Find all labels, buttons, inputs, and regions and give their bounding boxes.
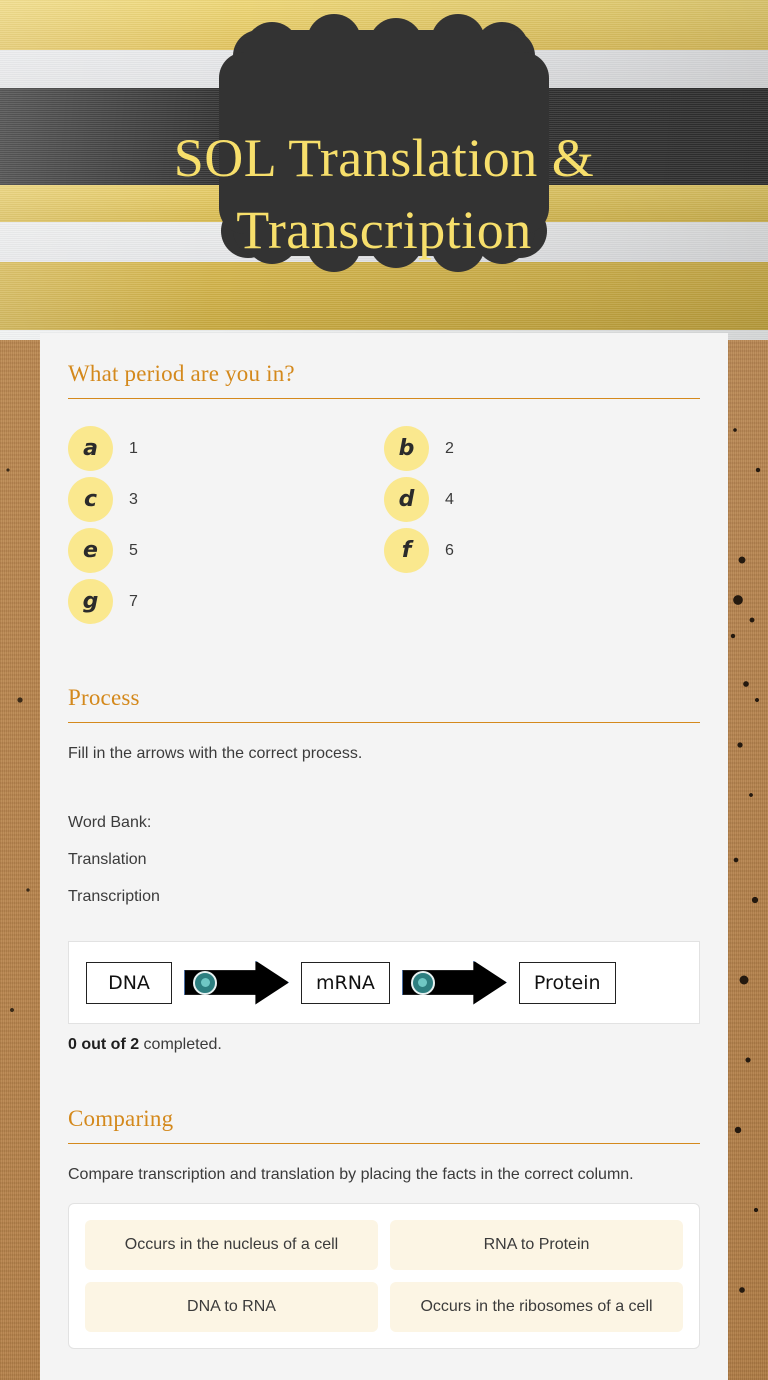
- choice-letter-bubble: e: [68, 528, 113, 573]
- comparing-instruction: Compare transcription and translation by…: [68, 1162, 700, 1187]
- process-instruction: Fill in the arrows with the correct proc…: [68, 741, 700, 766]
- section-divider: [68, 398, 700, 399]
- diagram-arrow-slot-2[interactable]: [402, 958, 507, 1008]
- section-title-period: What period are you in?: [68, 361, 700, 398]
- worksheet-card: What period are you in? a 1 c 3 e 5 g 7 …: [40, 333, 728, 1380]
- drop-target-icon[interactable]: [193, 971, 217, 995]
- section-process: Process Fill in the arrows with the corr…: [68, 627, 700, 1054]
- choice-label: 5: [129, 542, 138, 560]
- word-bank-item-translation[interactable]: Translation: [68, 847, 700, 884]
- choice-letter-bubble: g: [68, 579, 113, 624]
- word-bank-item-transcription[interactable]: Transcription: [68, 884, 700, 921]
- choice-letter-bubble: c: [68, 477, 113, 522]
- fact-tile-panel: Occurs in the nucleus of a cell RNA to P…: [68, 1203, 700, 1349]
- choice-label: 3: [129, 491, 138, 509]
- choice-label: 1: [129, 440, 138, 458]
- choice-option-b[interactable]: b 2: [384, 423, 700, 474]
- drop-target-icon[interactable]: [411, 971, 435, 995]
- fact-tile[interactable]: Occurs in the nucleus of a cell: [85, 1220, 378, 1270]
- diagram-arrow-slot-1[interactable]: [184, 958, 289, 1008]
- choice-option-a[interactable]: a 1: [68, 423, 384, 474]
- fact-tile[interactable]: RNA to Protein: [390, 1220, 683, 1270]
- section-title-process: Process: [68, 685, 700, 722]
- hero-banner: SOL Translation & Transcription: [0, 0, 768, 340]
- progress-status: 0 out of 2 completed.: [68, 1024, 700, 1054]
- diagram-node-protein: Protein: [519, 962, 616, 1004]
- section-period: What period are you in? a 1 c 3 e 5 g 7 …: [68, 333, 700, 627]
- choice-label: 6: [445, 542, 454, 560]
- choice-option-c[interactable]: c 3: [68, 474, 384, 525]
- section-divider: [68, 722, 700, 723]
- choice-letter-bubble: d: [384, 477, 429, 522]
- process-diagram: DNA mRNA Protein: [68, 941, 700, 1024]
- choice-label: 4: [445, 491, 454, 509]
- choice-option-f[interactable]: f 6: [384, 525, 700, 576]
- progress-count: 0 out of 2: [68, 1036, 139, 1053]
- diagram-node-mrna: mRNA: [301, 962, 390, 1004]
- choice-letter-bubble: f: [384, 528, 429, 573]
- choice-letter-bubble: a: [68, 426, 113, 471]
- fact-tile[interactable]: Occurs in the ribosomes of a cell: [390, 1282, 683, 1332]
- choice-label: 2: [445, 440, 454, 458]
- choice-label: 7: [129, 593, 138, 611]
- choice-letter-bubble: b: [384, 426, 429, 471]
- choice-option-e[interactable]: e 5: [68, 525, 384, 576]
- diagram-node-dna: DNA: [86, 962, 172, 1004]
- progress-suffix: completed.: [139, 1036, 222, 1053]
- word-bank-label: Word Bank:: [68, 810, 700, 847]
- choice-option-g[interactable]: g 7: [68, 576, 384, 627]
- fact-tile[interactable]: DNA to RNA: [85, 1282, 378, 1332]
- period-choice-grid: a 1 c 3 e 5 g 7 b 2 d 4: [68, 417, 700, 627]
- page-title: SOL Translation & Transcription: [0, 122, 768, 266]
- word-bank: Word Bank: Translation Transcription: [68, 766, 700, 921]
- choice-option-d[interactable]: d 4: [384, 474, 700, 525]
- section-comparing: Comparing Compare transcription and tran…: [68, 1054, 700, 1349]
- section-divider: [68, 1143, 700, 1144]
- section-title-comparing: Comparing: [68, 1106, 700, 1143]
